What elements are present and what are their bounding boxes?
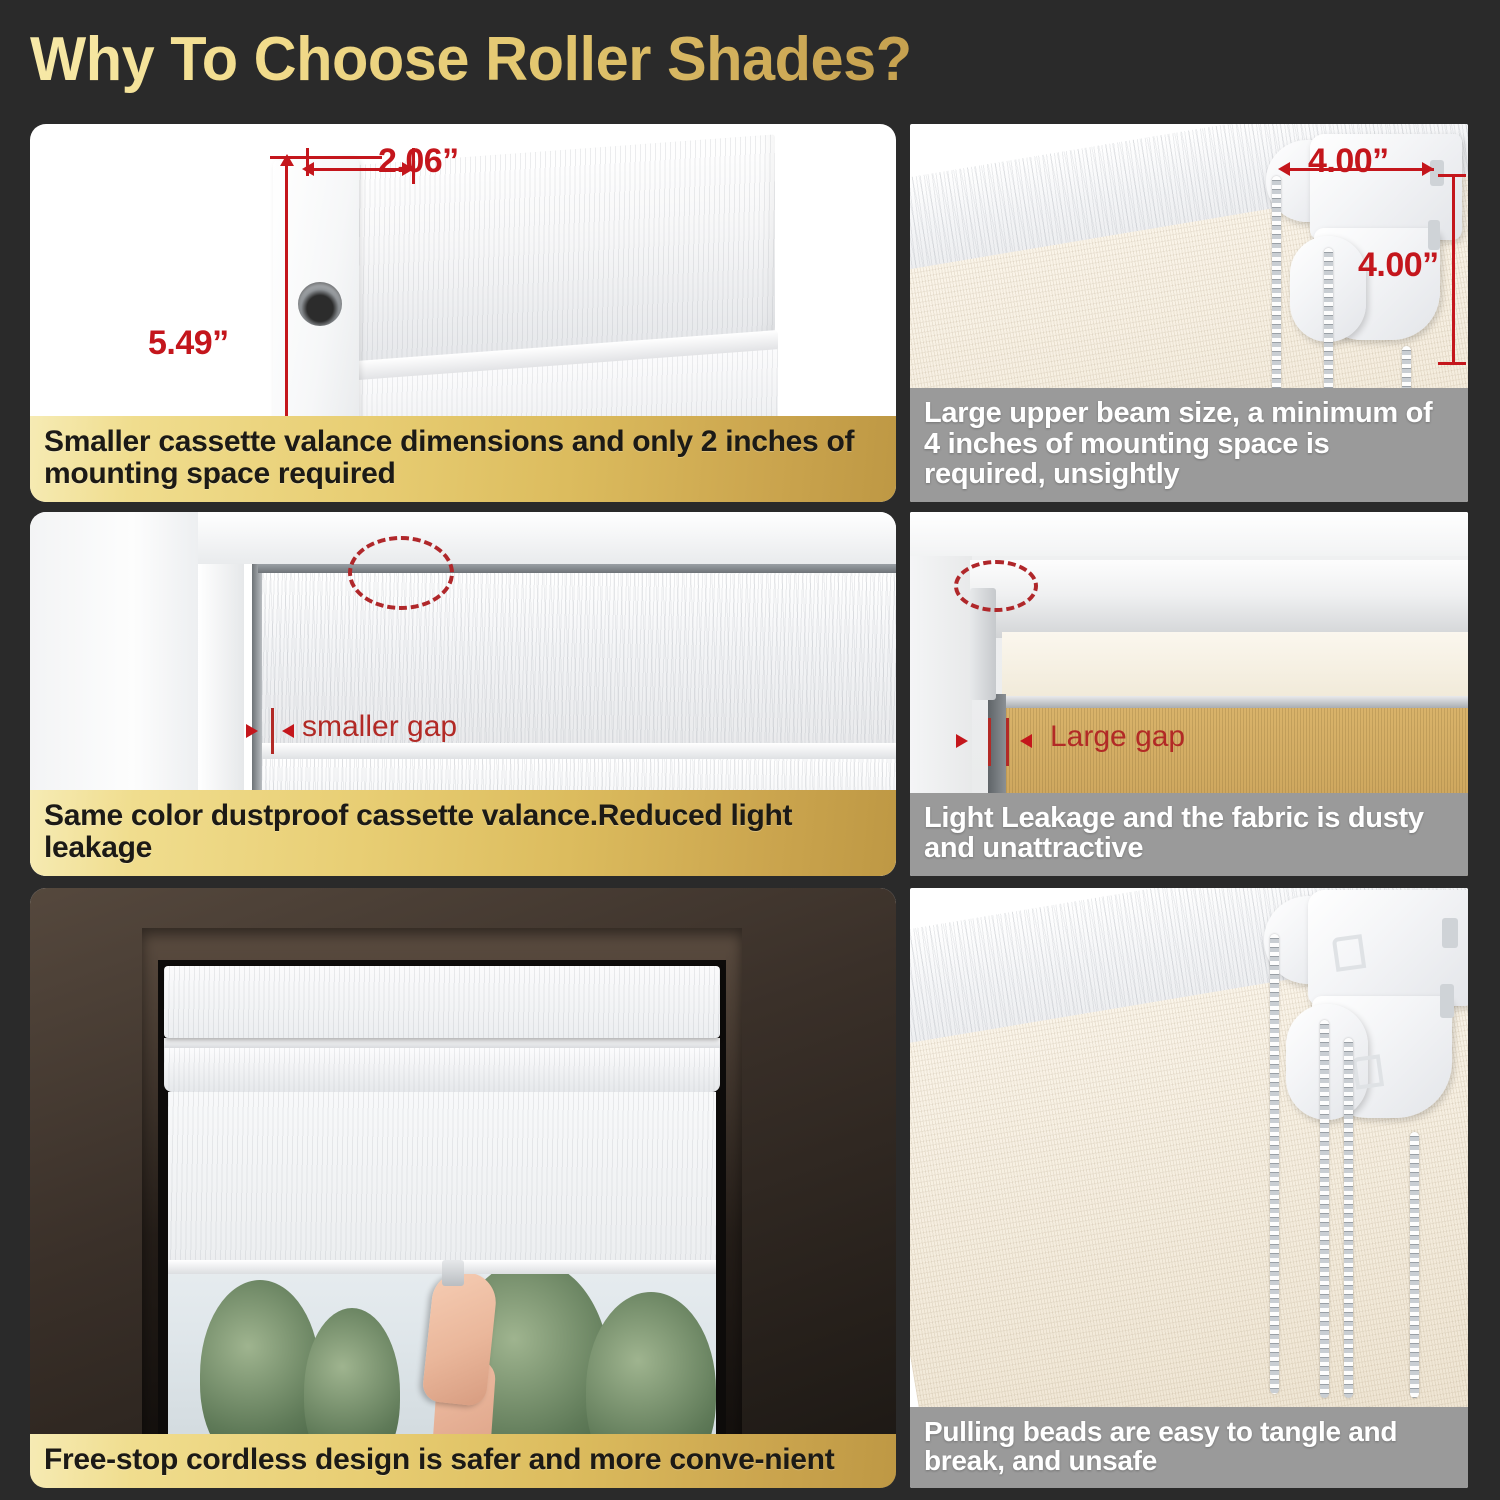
panel-pulling-beads: Pulling beads are easy to tangle and bre… bbox=[910, 888, 1468, 1488]
cassette-valance-shape bbox=[164, 966, 720, 1038]
gap-highlight-ellipse-icon bbox=[954, 560, 1038, 612]
caption-free-stop-cordless: Free-stop cordless design is safer and m… bbox=[30, 1434, 896, 1488]
height-tick-top bbox=[270, 156, 382, 159]
gap-note-label: smaller gap bbox=[302, 710, 457, 744]
gap-arrow-left-icon bbox=[1020, 734, 1032, 748]
bracket-emboss-icon bbox=[1332, 934, 1366, 972]
shade-pull-grip-icon bbox=[442, 1260, 464, 1286]
bead-chain-back bbox=[1410, 1132, 1419, 1398]
width-tick-left bbox=[306, 148, 309, 176]
gap-marker-line-1 bbox=[988, 718, 991, 766]
bracket-port-icon bbox=[298, 282, 342, 326]
caption-dustproof-cassette-valance: Same color dustproof cassette valance.Re… bbox=[30, 790, 896, 876]
comparison-grid: 2.06” 5.49” Smaller cassette valance dim… bbox=[0, 112, 1500, 1500]
beam-height-tick-top bbox=[1438, 174, 1466, 177]
roller-tube-shape bbox=[970, 560, 1468, 638]
beam-height-dimension-line bbox=[1452, 174, 1455, 364]
panel-smaller-cassette-valance: 2.06” 5.49” Smaller cassette valance dim… bbox=[30, 124, 896, 502]
product-photo-pulling-beads bbox=[910, 888, 1468, 1488]
caption-pulling-beads: Pulling beads are easy to tangle and bre… bbox=[910, 1407, 1468, 1488]
valance-lip-shape bbox=[262, 743, 896, 759]
beam-height-tick-bottom bbox=[1438, 362, 1466, 365]
gap-arrow-right-icon bbox=[956, 734, 968, 748]
bead-chain-front bbox=[1270, 934, 1279, 1394]
bottom-rail-shape bbox=[998, 696, 1468, 708]
bracket-emboss-2-icon bbox=[1352, 1054, 1384, 1090]
gap-highlight-ellipse-icon bbox=[348, 536, 454, 610]
page-title: Why To Choose Roller Shades? bbox=[30, 18, 1130, 102]
bracket-slot-2-icon bbox=[1440, 984, 1454, 1018]
roller-shape bbox=[164, 1048, 720, 1092]
product-photo-room-window bbox=[30, 888, 896, 1488]
gap-marker-line-2 bbox=[1006, 718, 1009, 766]
beam-width-arrow-right-icon bbox=[1422, 162, 1434, 176]
panel-free-stop-cordless: Free-stop cordless design is safer and m… bbox=[30, 888, 896, 1488]
gap-arrow-right-icon bbox=[246, 724, 258, 738]
bracket-slot-icon bbox=[1442, 918, 1458, 948]
beam-width-dimension-label: 4.00” bbox=[1308, 142, 1389, 181]
beam-width-arrow-left-icon bbox=[1278, 162, 1290, 176]
panel-large-upper-beam: 4.00” 4.00” Large upper beam size, a min… bbox=[910, 124, 1468, 502]
width-dimension-label: 2.06” bbox=[378, 142, 459, 181]
page-title-text: Why To Choose Roller Shades? bbox=[30, 18, 1086, 102]
panel-light-leakage: Large gap Light Leakage and the fabric i… bbox=[910, 512, 1468, 876]
beam-height-dimension-label: 4.00” bbox=[1358, 246, 1439, 285]
ceiling-shape bbox=[910, 512, 1468, 556]
panel-dustproof-cassette-valance: smaller gap Same color dustproof cassett… bbox=[30, 512, 896, 876]
window-head-shape bbox=[198, 512, 896, 564]
height-dimension-label: 5.49” bbox=[148, 324, 229, 363]
valance-lip-shape bbox=[164, 1038, 720, 1048]
caption-large-upper-beam: Large upper beam size, a minimum of 4 in… bbox=[910, 388, 1468, 502]
gap-arrow-left-icon bbox=[282, 724, 294, 738]
bead-chain-middle bbox=[1320, 1020, 1329, 1398]
gap-note-label: Large gap bbox=[1050, 720, 1185, 754]
bead-chain-middle bbox=[1324, 248, 1333, 406]
cream-fabric-shape bbox=[1002, 632, 1468, 698]
bead-chain-middle-2 bbox=[1344, 1038, 1353, 1398]
shade-fabric-shape bbox=[168, 1092, 716, 1264]
caption-smaller-cassette-valance: Smaller cassette valance dimensions and … bbox=[30, 416, 896, 502]
gap-marker-line bbox=[271, 708, 274, 754]
bead-chain-front bbox=[1272, 176, 1281, 406]
caption-light-leakage: Light Leakage and the fabric is dusty an… bbox=[910, 793, 1468, 876]
